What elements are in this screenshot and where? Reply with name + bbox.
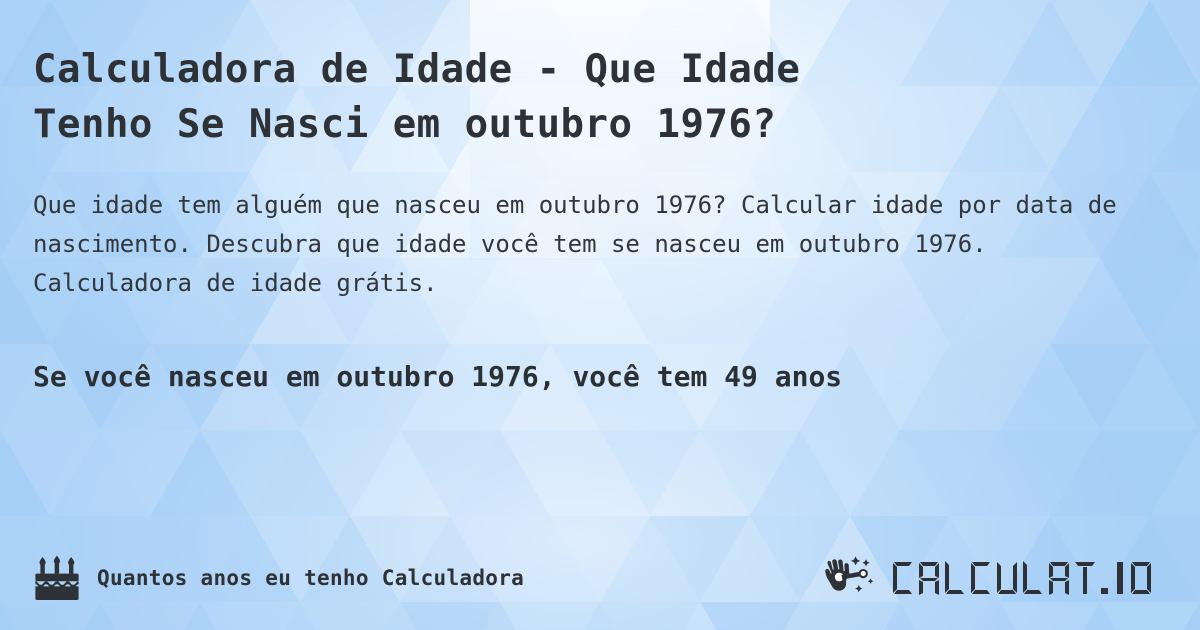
page-title-line-2: Tenho Se Nasci em outubro 1976? (33, 97, 1033, 152)
footer: Quantos anos eu tenho Calculadora (0, 548, 1200, 608)
brand-wordmark-calculatio (891, 555, 1167, 601)
page-title: Calculadora de Idade - Que Idade Tenho S… (33, 42, 1033, 153)
og-card: Calculadora de Idade - Que Idade Tenho S… (0, 0, 1200, 630)
magic-wand-hand-icon (821, 554, 885, 602)
footer-label: Quantos anos eu tenho Calculadora (97, 566, 524, 590)
birthday-cake-icon (33, 555, 81, 601)
footer-brand-left: Quantos anos eu tenho Calculadora (33, 555, 524, 601)
page-title-line-1: Calculadora de Idade - Que Idade (33, 42, 1033, 97)
page-description: Que idade tem alguém que nasceu em outub… (33, 186, 1143, 303)
brand-logo[interactable] (821, 554, 1167, 602)
age-answer-text: Se você nasceu em outubro 1976, você tem… (33, 356, 1093, 399)
